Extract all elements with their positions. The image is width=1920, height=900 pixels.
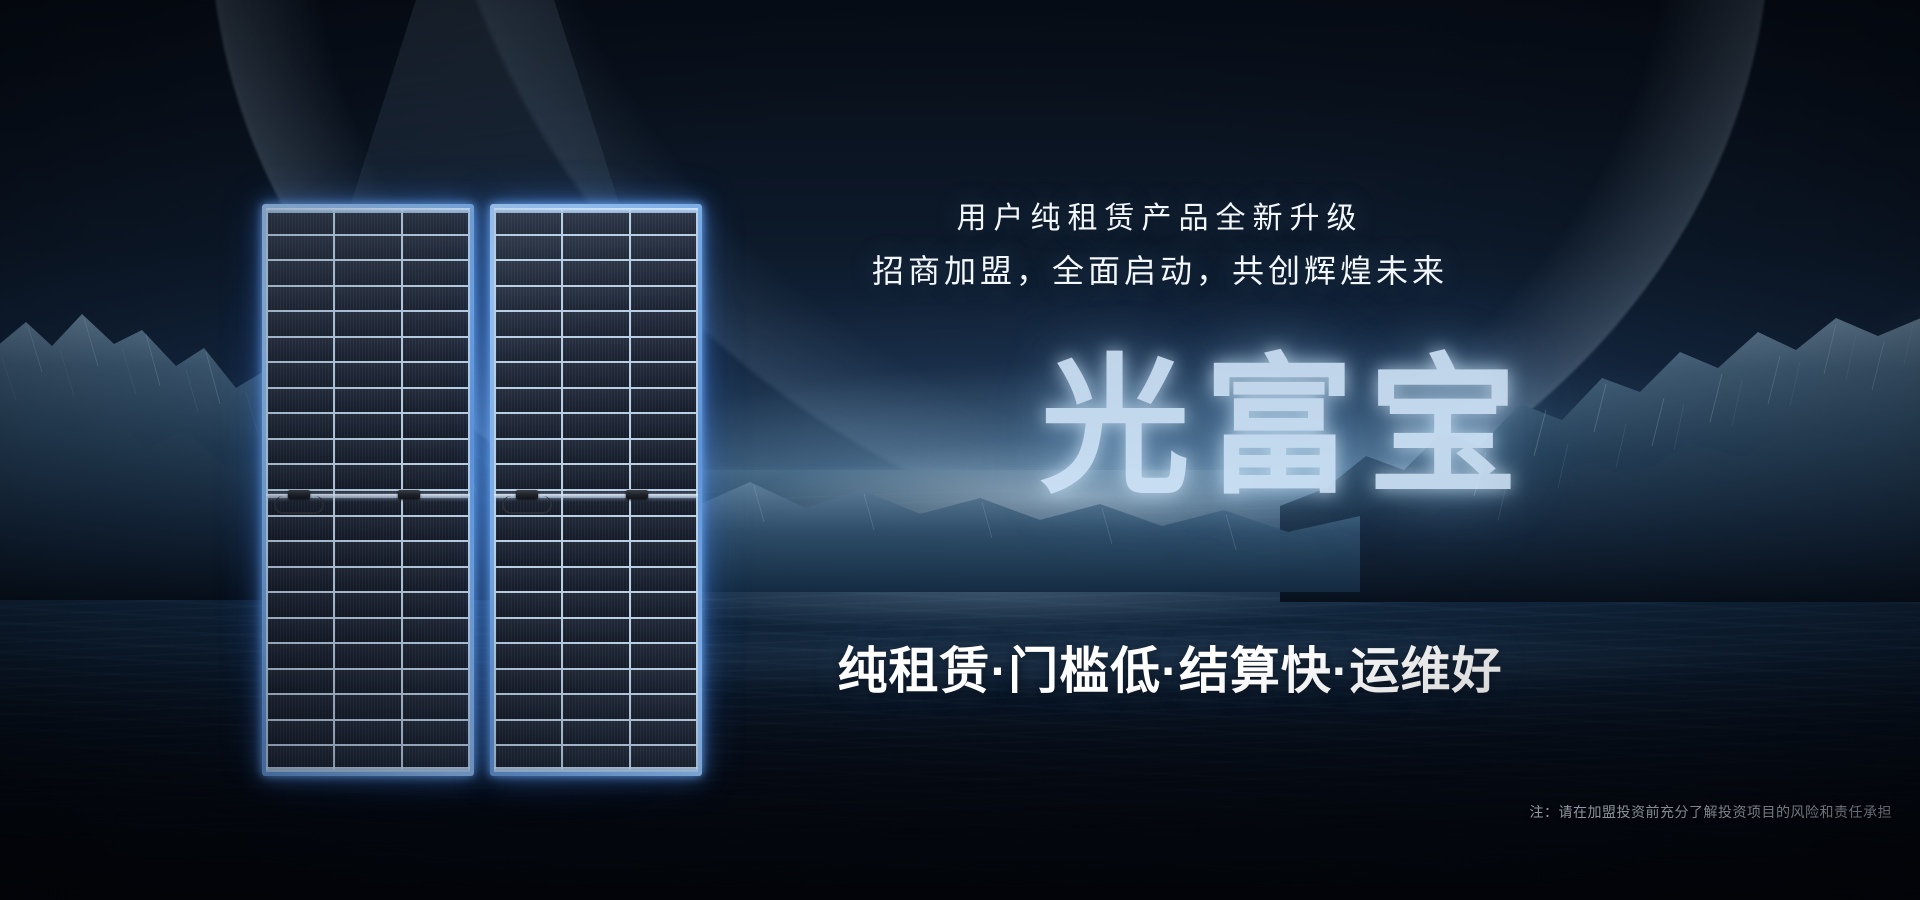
solar-cell [403, 287, 468, 311]
panel-glass-left [266, 208, 470, 772]
frame-rail-bottom-right [494, 767, 698, 772]
solar-cell [631, 236, 696, 260]
solar-cell [268, 542, 333, 566]
solar-cell [403, 670, 468, 694]
solar-cell [631, 593, 696, 617]
solar-cell [268, 414, 333, 438]
solar-cell [268, 517, 333, 541]
solar-cell [631, 517, 696, 541]
solar-cell [335, 236, 400, 260]
solar-cell [631, 670, 696, 694]
solar-cell [631, 261, 696, 285]
solar-cell [335, 644, 400, 668]
solar-cell [268, 287, 333, 311]
solar-cell [403, 542, 468, 566]
solar-cell [403, 236, 468, 260]
solar-panel[interactable] [262, 204, 704, 776]
solar-cell [268, 236, 333, 260]
solar-cell [631, 465, 696, 489]
solar-cell [403, 593, 468, 617]
solar-cell [496, 542, 561, 566]
solar-cell [335, 440, 400, 464]
solar-cell [563, 261, 628, 285]
solar-cell [335, 389, 400, 413]
solar-cell [403, 440, 468, 464]
solar-cell [403, 414, 468, 438]
solar-cell [563, 619, 628, 643]
solar-cell [496, 414, 561, 438]
solar-cell [268, 593, 333, 617]
solar-cell [403, 363, 468, 387]
frame-rail-top-left [266, 208, 470, 213]
solar-cell [403, 619, 468, 643]
solar-cell [335, 465, 400, 489]
frame-rail-top-right [494, 208, 698, 213]
solar-cell [496, 389, 561, 413]
solar-cell [268, 695, 333, 719]
solar-cell [335, 695, 400, 719]
solar-cell [335, 721, 400, 745]
solar-cell [563, 517, 628, 541]
solar-cell [631, 695, 696, 719]
solar-cell [403, 517, 468, 541]
solar-cell [335, 491, 400, 515]
solar-cell [335, 210, 400, 234]
solar-cell [631, 644, 696, 668]
solar-cell [403, 389, 468, 413]
solar-cell [631, 338, 696, 362]
solar-cell [631, 287, 696, 311]
solar-cell [631, 619, 696, 643]
solar-cell [563, 721, 628, 745]
solar-cell [335, 312, 400, 336]
promo-banner: 用户纯租赁产品全新升级 招商加盟，全面启动，共创辉煌未来 光富宝 纯租赁·门槛低… [0, 0, 1920, 900]
solar-cell [403, 644, 468, 668]
solar-cell [496, 721, 561, 745]
solar-cell [631, 721, 696, 745]
panel-module-left[interactable] [262, 204, 474, 776]
solar-cell [496, 517, 561, 541]
solar-cell [403, 210, 468, 234]
junction-box [398, 490, 420, 499]
solar-cell [268, 389, 333, 413]
solar-cell [631, 440, 696, 464]
solar-cell [631, 568, 696, 592]
solar-cell [403, 695, 468, 719]
solar-cell [403, 465, 468, 489]
solar-cell [563, 210, 628, 234]
solar-cell [335, 542, 400, 566]
solar-cell [563, 644, 628, 668]
solar-cell [403, 568, 468, 592]
solar-cell [268, 210, 333, 234]
solar-cell [496, 619, 561, 643]
solar-cell [563, 236, 628, 260]
solar-cell [268, 568, 333, 592]
solar-cell [563, 389, 628, 413]
solar-cell [335, 338, 400, 362]
solar-cell [268, 721, 333, 745]
solar-cell [496, 695, 561, 719]
solar-cell [268, 312, 333, 336]
solar-cell [563, 670, 628, 694]
solar-cell [403, 721, 468, 745]
solar-cell [563, 414, 628, 438]
solar-cell [335, 619, 400, 643]
solar-cell [563, 542, 628, 566]
solar-cell [631, 363, 696, 387]
solar-cell [496, 338, 561, 362]
solar-cell [496, 440, 561, 464]
cable-loop [502, 496, 552, 514]
solar-cell [335, 261, 400, 285]
solar-cell [335, 670, 400, 694]
solar-cell [403, 261, 468, 285]
panel-module-right[interactable] [490, 204, 702, 776]
solar-cell [335, 287, 400, 311]
solar-cell [496, 465, 561, 489]
frame-rail-bottom-left [266, 767, 470, 772]
solar-cell [563, 287, 628, 311]
solar-cell [335, 593, 400, 617]
solar-cell [496, 210, 561, 234]
solar-cell [631, 210, 696, 234]
solar-cell [268, 338, 333, 362]
junction-box [626, 490, 648, 499]
solar-cell [496, 236, 561, 260]
solar-cell [496, 670, 561, 694]
solar-cell [268, 670, 333, 694]
solar-cell [496, 644, 561, 668]
solar-cell [496, 261, 561, 285]
solar-cell [496, 568, 561, 592]
solar-cell [268, 363, 333, 387]
solar-cell [563, 695, 628, 719]
solar-cell [335, 363, 400, 387]
solar-cell [563, 465, 628, 489]
solar-cell [631, 389, 696, 413]
solar-cell [268, 465, 333, 489]
solar-cell [268, 644, 333, 668]
solar-cell [496, 363, 561, 387]
solar-cell [268, 619, 333, 643]
solar-cell [563, 312, 628, 336]
solar-cell [496, 312, 561, 336]
solar-cell [631, 312, 696, 336]
solar-cell [563, 363, 628, 387]
solar-cell [631, 542, 696, 566]
solar-cell [335, 414, 400, 438]
solar-cell [403, 312, 468, 336]
solar-cell [563, 593, 628, 617]
solar-cell [335, 568, 400, 592]
solar-cell [563, 440, 628, 464]
solar-cell [335, 517, 400, 541]
solar-cell [631, 414, 696, 438]
solar-cell [403, 338, 468, 362]
solar-cell [496, 593, 561, 617]
solar-cell [268, 261, 333, 285]
solar-cell [563, 491, 628, 515]
solar-cell [268, 440, 333, 464]
solar-cell [496, 287, 561, 311]
cable-loop [274, 496, 324, 514]
solar-cell [563, 338, 628, 362]
solar-cell [563, 568, 628, 592]
panel-glass-right [494, 208, 698, 772]
